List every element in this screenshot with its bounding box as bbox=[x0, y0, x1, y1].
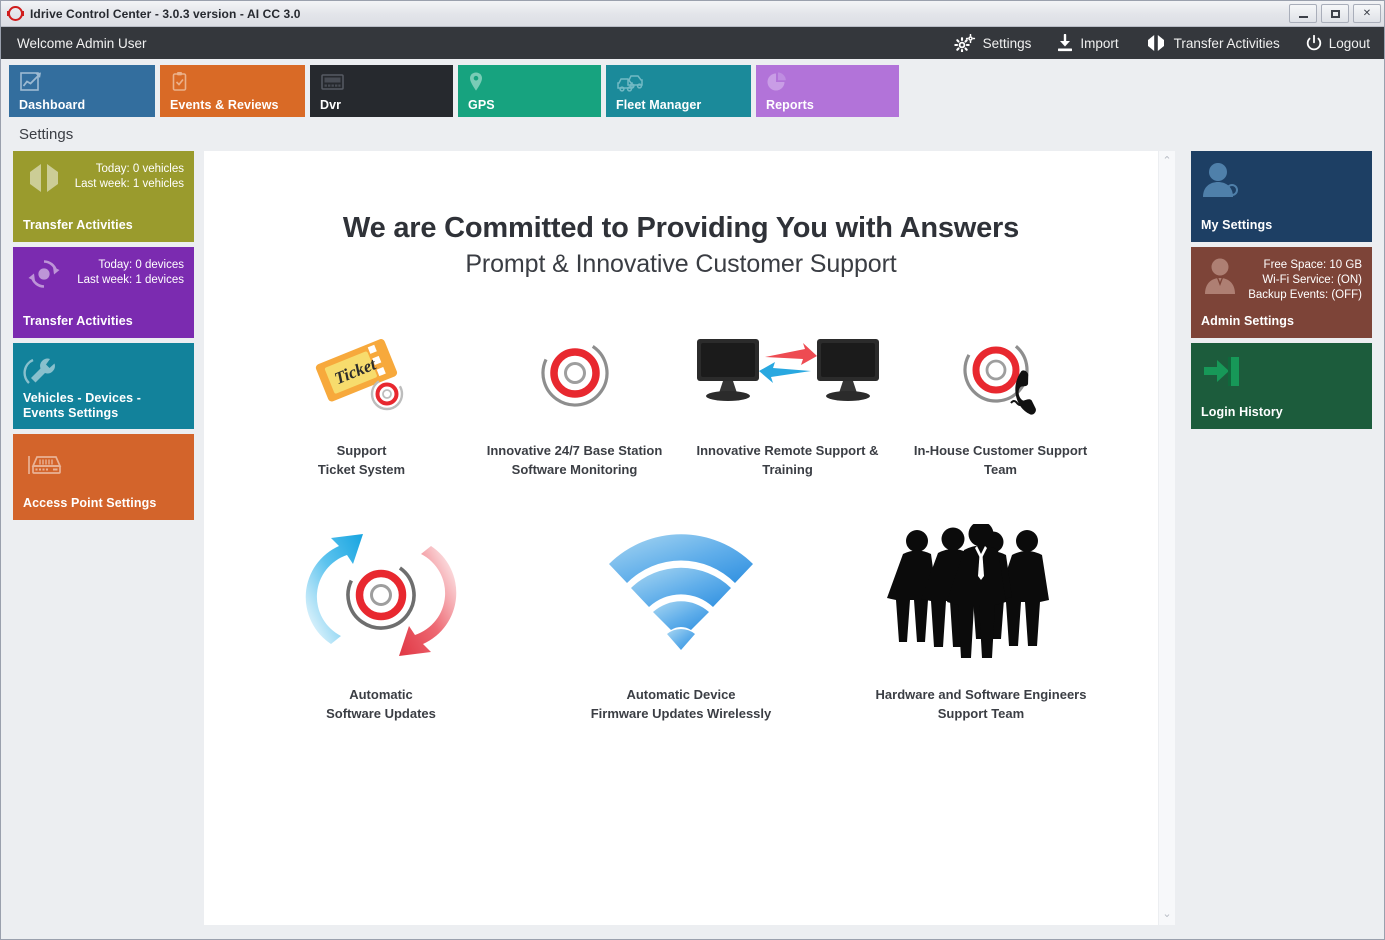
close-button[interactable]: ✕ bbox=[1353, 4, 1381, 23]
tile-stat-line: Today: 0 vehicles bbox=[75, 162, 184, 177]
page-title: Settings bbox=[19, 126, 73, 143]
auto-update-icon bbox=[291, 519, 471, 669]
tile-title: Vehicles - Devices - Events Settings bbox=[23, 391, 184, 421]
clipboard-check-icon bbox=[170, 71, 295, 93]
pie-chart-icon bbox=[766, 71, 889, 93]
tile-stats: Today: 0 devices Last week: 1 devices bbox=[77, 255, 184, 288]
tile-stat-line: Last week: 1 vehicles bbox=[75, 177, 184, 192]
feature-remote-support-training: Innovative Remote Support & Training bbox=[681, 321, 894, 479]
tile-title: Admin Settings bbox=[1201, 314, 1362, 329]
tile-login-history[interactable]: Login History bbox=[1191, 343, 1372, 429]
feature-label: Hardware and Software Engineers Support … bbox=[876, 685, 1087, 723]
feature-automatic-firmware-updates: Automatic Device Firmware Updates Wirele… bbox=[531, 519, 831, 723]
transfer-activities-label: Transfer Activities bbox=[1174, 36, 1280, 51]
logout-button-label: Logout bbox=[1329, 36, 1370, 51]
feature-base-station-monitoring: Innovative 24/7 Base Station Software Mo… bbox=[468, 321, 681, 479]
nav-tab-gps[interactable]: GPS bbox=[458, 65, 601, 117]
feature-in-house-support-team: In-House Customer Support Team bbox=[894, 321, 1107, 479]
map-pin-icon bbox=[468, 71, 591, 93]
feature-label: Support Ticket System bbox=[318, 441, 405, 479]
login-door-icon bbox=[1201, 351, 1241, 394]
tile-title: Transfer Activities bbox=[23, 218, 184, 233]
close-icon: ✕ bbox=[1363, 9, 1371, 19]
feature-row-1: Ticket Support Ticket System bbox=[224, 321, 1138, 513]
tile-transfer-activities-vehicles[interactable]: Today: 0 vehicles Last week: 1 vehicles … bbox=[13, 151, 194, 242]
page-body: Today: 0 vehicles Last week: 1 vehicles … bbox=[1, 151, 1384, 939]
tile-stat-line: Wi-Fi Service: (ON) bbox=[1248, 273, 1362, 288]
tile-admin-settings[interactable]: Free Space: 10 GB Wi-Fi Service: (ON) Ba… bbox=[1191, 247, 1372, 338]
nav-tab-gps-label: GPS bbox=[468, 98, 591, 117]
tile-transfer-activities-devices[interactable]: Today: 0 devices Last week: 1 devices Tr… bbox=[13, 247, 194, 338]
tile-stat-line: Last week: 1 devices bbox=[77, 273, 184, 288]
tile-vehicles-devices-events-settings[interactable]: Vehicles - Devices - Events Settings bbox=[13, 343, 194, 429]
vehicles-icon bbox=[616, 71, 741, 93]
chart-line-icon bbox=[19, 71, 145, 93]
window-title: Idrive Control Center - 3.0.3 version - … bbox=[30, 7, 1289, 21]
feature-label: Innovative Remote Support & Training bbox=[696, 441, 878, 479]
phone-target-icon bbox=[951, 321, 1051, 425]
base-station-target-icon bbox=[530, 321, 620, 425]
wifi-icon bbox=[603, 519, 759, 669]
tile-stat-line: Free Space: 10 GB bbox=[1248, 258, 1362, 273]
nav-tab-reports[interactable]: Reports bbox=[756, 65, 899, 117]
logout-button[interactable]: Logout bbox=[1306, 35, 1370, 52]
application-window: Idrive Control Center - 3.0.3 version - … bbox=[0, 0, 1385, 940]
feature-support-ticket-system: Ticket Support Ticket System bbox=[255, 321, 468, 479]
top-action-bar: Welcome Admin User bbox=[1, 27, 1384, 59]
content-area: We are Committed to Providing You with A… bbox=[204, 151, 1175, 925]
left-tile-column: Today: 0 vehicles Last week: 1 vehicles … bbox=[13, 151, 194, 925]
download-icon bbox=[1057, 34, 1073, 52]
tile-title: Transfer Activities bbox=[23, 314, 184, 329]
remote-monitors-icon bbox=[693, 321, 883, 425]
power-icon bbox=[1306, 35, 1322, 52]
nav-tab-dvr-label: Dvr bbox=[320, 98, 443, 117]
transfer-icon bbox=[1145, 34, 1167, 52]
nav-tab-dashboard-label: Dashboard bbox=[19, 98, 145, 117]
tile-stats: Free Space: 10 GB Wi-Fi Service: (ON) Ba… bbox=[1248, 255, 1362, 303]
scroll-down-icon[interactable]: ⌄ bbox=[1162, 909, 1171, 920]
tile-stat-line: Today: 0 devices bbox=[77, 258, 184, 273]
wrench-icon bbox=[23, 351, 63, 394]
feature-automatic-software-updates: Automatic Software Updates bbox=[231, 519, 531, 723]
support-ticket-icon: Ticket bbox=[310, 321, 414, 425]
nav-tab-reports-label: Reports bbox=[766, 98, 889, 117]
feature-label: In-House Customer Support Team bbox=[914, 441, 1087, 479]
maximize-button[interactable] bbox=[1321, 4, 1349, 23]
tile-title: Access Point Settings bbox=[23, 496, 184, 511]
dvr-icon bbox=[320, 71, 443, 93]
nav-tab-events-reviews-label: Events & Reviews bbox=[170, 98, 295, 117]
tile-my-settings[interactable]: My Settings bbox=[1191, 151, 1372, 242]
user-settings-icon bbox=[1201, 159, 1241, 204]
title-bar: Idrive Control Center - 3.0.3 version - … bbox=[1, 1, 1384, 27]
transfer-activities-button[interactable]: Transfer Activities bbox=[1145, 34, 1280, 52]
team-silhouette-icon bbox=[881, 519, 1081, 669]
main-navigation: Dashboard Events & Reviews Dvr bbox=[1, 59, 1384, 117]
nav-tab-events-reviews[interactable]: Events & Reviews bbox=[160, 65, 305, 117]
feature-label: Automatic Device Firmware Updates Wirele… bbox=[591, 685, 772, 723]
promo-section: We are Committed to Providing You with A… bbox=[204, 151, 1158, 757]
nav-tab-fleet-manager[interactable]: Fleet Manager bbox=[606, 65, 751, 117]
feature-engineers-support-team: Hardware and Software Engineers Support … bbox=[831, 519, 1131, 723]
idrive-logo-icon bbox=[8, 6, 23, 21]
right-tile-column: My Settings Free Space: 10 GB Wi-Fi Serv… bbox=[1191, 151, 1372, 925]
breadcrumb: Settings bbox=[1, 117, 1384, 151]
promo-headline: We are Committed to Providing You with A… bbox=[224, 211, 1138, 246]
feature-label: Innovative 24/7 Base Station Software Mo… bbox=[487, 441, 663, 479]
settings-button-label: Settings bbox=[983, 36, 1032, 51]
router-icon bbox=[23, 442, 67, 485]
support-panel: We are Committed to Providing You with A… bbox=[204, 151, 1158, 925]
nav-tab-dvr[interactable]: Dvr bbox=[310, 65, 453, 117]
tile-stat-line: Backup Events: (OFF) bbox=[1248, 288, 1362, 303]
tile-title: Login History bbox=[1201, 405, 1362, 420]
nav-tab-dashboard[interactable]: Dashboard bbox=[9, 65, 155, 117]
content-scrollbar[interactable]: ⌃ ⌄ bbox=[1158, 151, 1175, 925]
window-controls: ✕ bbox=[1289, 4, 1381, 23]
device-sync-icon bbox=[23, 255, 65, 296]
settings-button[interactable]: Settings bbox=[954, 34, 1032, 52]
promo-subhead: Prompt & Innovative Customer Support bbox=[224, 250, 1138, 279]
scroll-up-icon[interactable]: ⌃ bbox=[1162, 156, 1171, 167]
feature-row-2: Automatic Software Updates bbox=[224, 519, 1138, 757]
admin-user-icon bbox=[1201, 255, 1239, 300]
tile-title: My Settings bbox=[1201, 218, 1362, 233]
gear-icon bbox=[954, 34, 976, 52]
minimize-button[interactable] bbox=[1289, 4, 1317, 23]
import-button-label: Import bbox=[1080, 36, 1118, 51]
tile-access-point-settings[interactable]: Access Point Settings bbox=[13, 434, 194, 520]
transfer-arrows-icon bbox=[23, 159, 65, 200]
nav-tab-fleet-manager-label: Fleet Manager bbox=[616, 98, 741, 117]
top-actions: Settings Import bbox=[954, 34, 1370, 52]
welcome-message: Welcome Admin User bbox=[17, 36, 954, 51]
tile-stats: Today: 0 vehicles Last week: 1 vehicles bbox=[75, 159, 184, 192]
import-button[interactable]: Import bbox=[1057, 34, 1118, 52]
feature-label: Automatic Software Updates bbox=[326, 685, 436, 723]
